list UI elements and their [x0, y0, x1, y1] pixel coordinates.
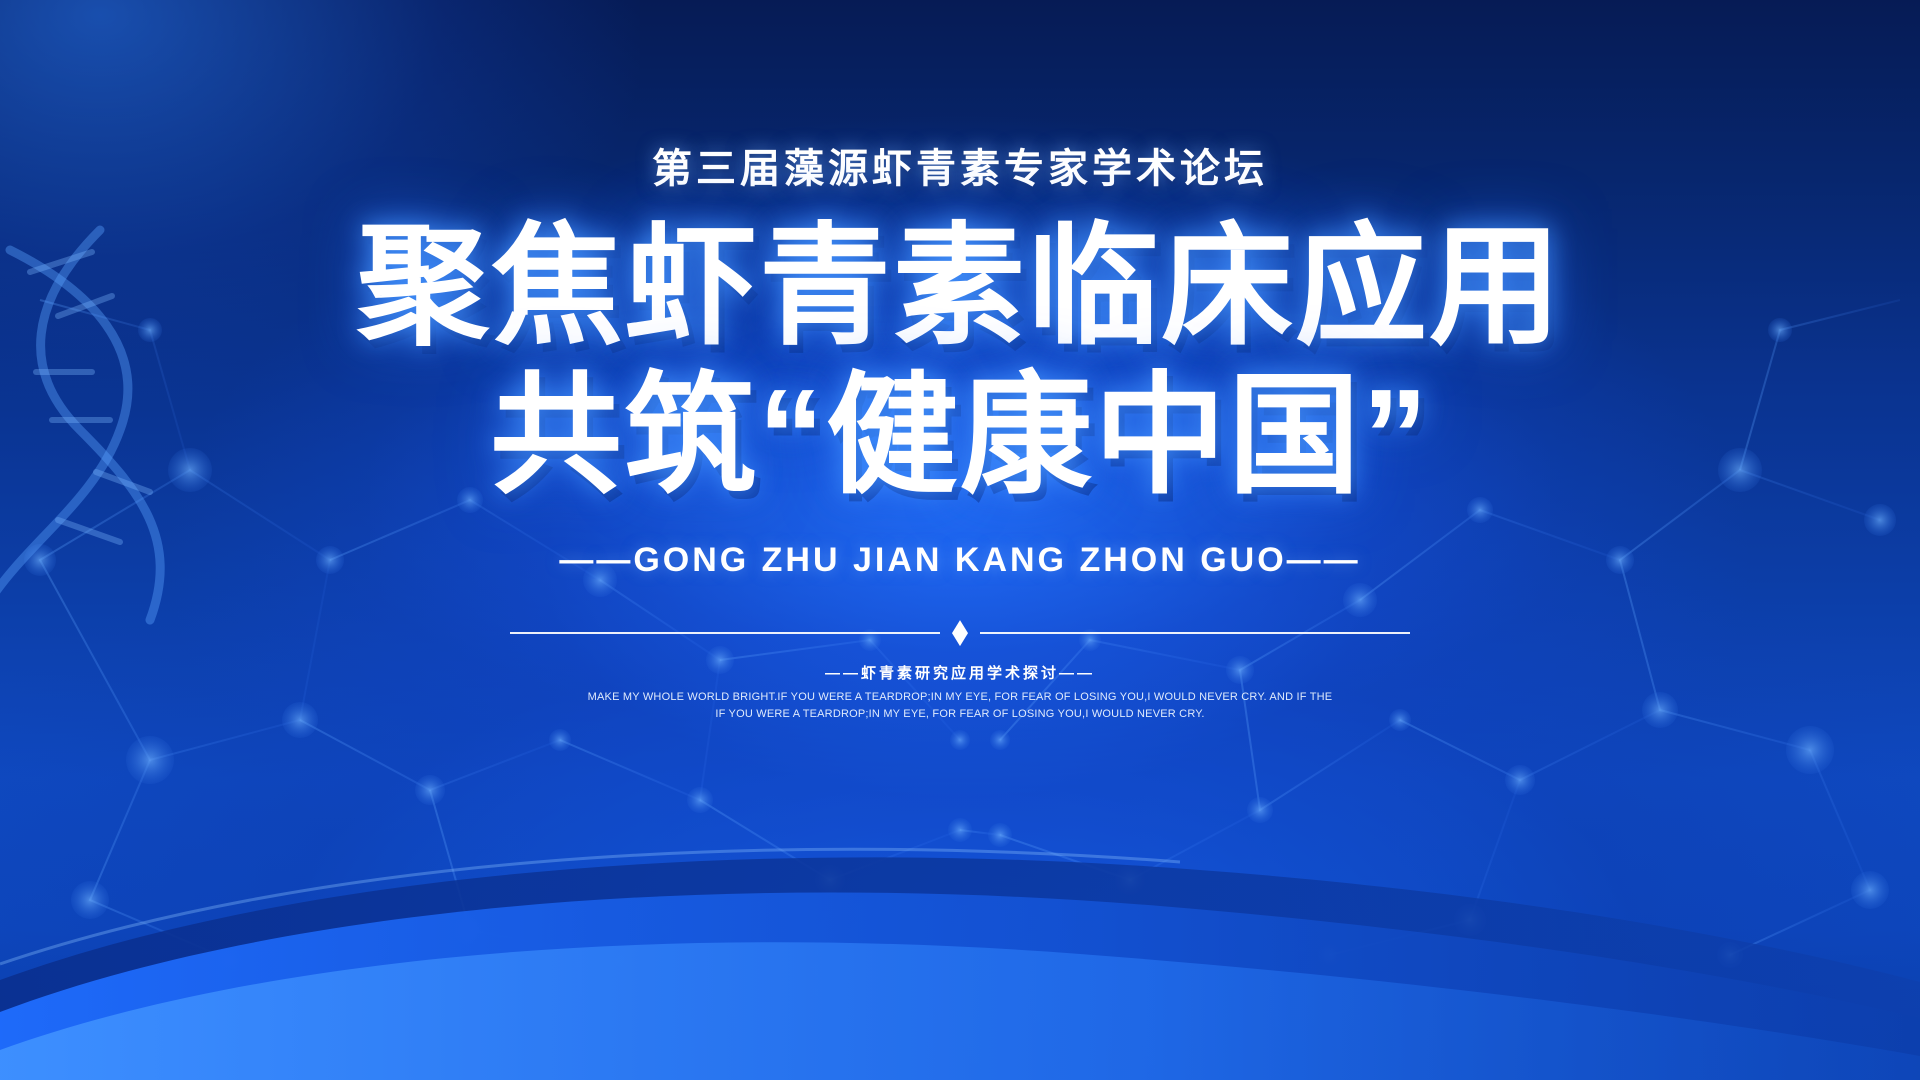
headline-line-1: 聚焦虾青素临床应用	[357, 216, 1563, 359]
divider-rule-left	[510, 632, 940, 634]
forum-eyebrow: 第三届藻源虾青素专家学术论坛	[652, 136, 1268, 194]
pinyin-subtitle: ——GONG ZHU JIAN KANG ZHON GUO——	[559, 541, 1360, 580]
poster-canvas: 第三届藻源虾青素专家学术论坛 聚焦虾青素临床应用 共筑“健康中国” ——GONG…	[0, 0, 1920, 1080]
subtitle-english-line-1: MAKE MY WHOLE WORLD BRIGHT.IF YOU WERE A…	[520, 689, 1400, 706]
headline-line-2: 共筑“健康中国”	[357, 365, 1563, 508]
poster-content: 第三届藻源虾青素专家学术论坛 聚焦虾青素临床应用 共筑“健康中国” ——GONG…	[0, 0, 1920, 1080]
divider-rule-right	[980, 632, 1410, 634]
subtitle-chinese: ——虾青素研究应用学术探讨——	[825, 662, 1095, 683]
subtitle-english: MAKE MY WHOLE WORLD BRIGHT.IF YOU WERE A…	[520, 689, 1400, 723]
divider	[510, 620, 1410, 646]
page-title: 聚焦虾青素临床应用 共筑“健康中国”	[357, 216, 1563, 507]
subtitle-english-line-2: IF YOU WERE A TEARDROP;IN MY EYE, FOR FE…	[520, 706, 1400, 723]
diamond-icon	[952, 620, 968, 646]
